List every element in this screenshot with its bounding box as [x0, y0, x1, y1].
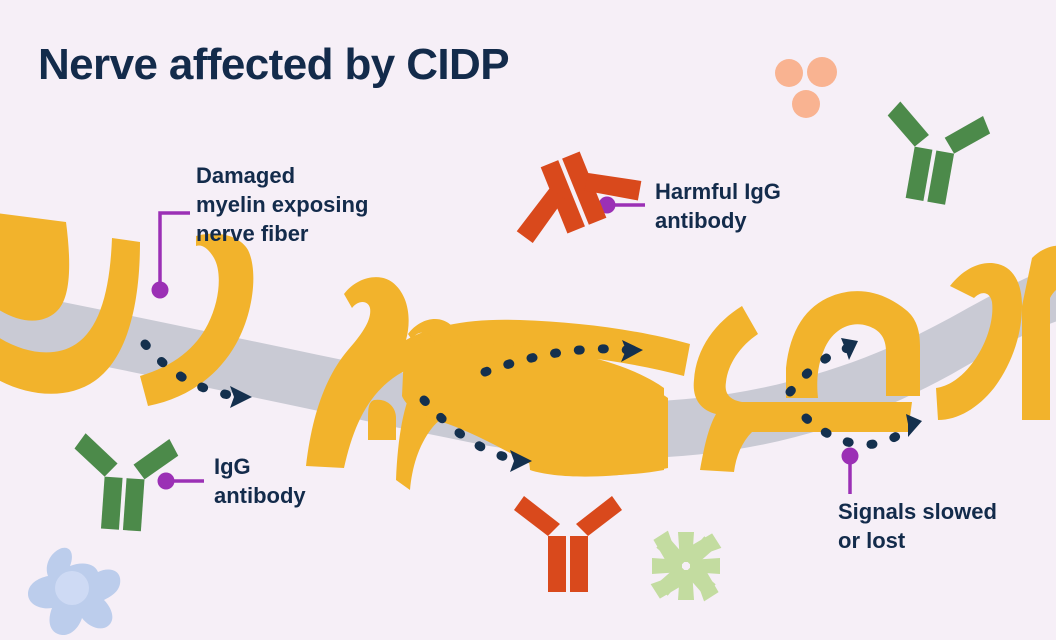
- decor-green-star: [646, 526, 726, 606]
- label-damaged-myelin: Damaged myelin exposing nerve fiber: [196, 161, 368, 248]
- antibody-orange-bottom: [514, 496, 622, 592]
- diagram-canvas: Nerve affected by CIDP Damaged myelin ex…: [0, 0, 1056, 640]
- myelin-segment: [402, 345, 664, 476]
- page-title: Nerve affected by CIDP: [38, 40, 509, 90]
- decor-blue-cell-nucleus: [55, 571, 89, 605]
- leader-dot-damaged-myelin: [152, 282, 169, 299]
- leader-line-damaged-myelin: [160, 213, 190, 285]
- label-igg: IgG antibody: [214, 452, 306, 510]
- leader-dot-signals: [842, 448, 859, 465]
- decor-peach-dots: [775, 57, 837, 118]
- decor-blue-cell: [28, 548, 120, 635]
- label-signals: Signals slowed or lost: [838, 497, 997, 555]
- leader-dot-igg: [158, 473, 175, 490]
- antibody-orange-top: [498, 134, 649, 251]
- antibody-green-right: [874, 100, 993, 211]
- label-harmful-igg: Harmful IgG antibody: [655, 177, 781, 235]
